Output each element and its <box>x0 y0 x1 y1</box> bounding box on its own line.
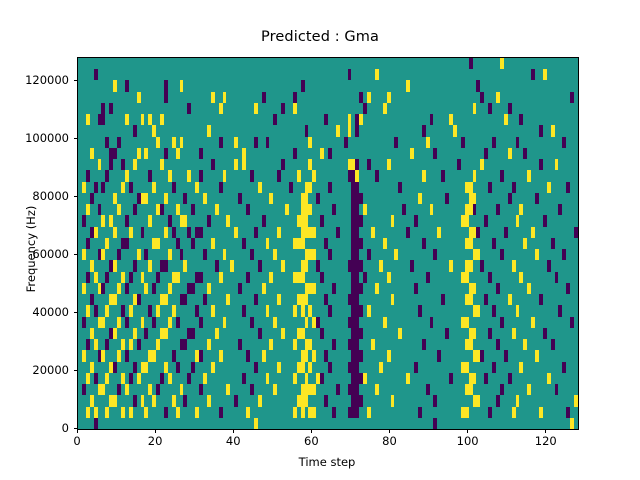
heatmap-cell <box>574 103 578 114</box>
heatmap-cell <box>574 92 578 103</box>
x-tick-mark <box>77 429 78 433</box>
heatmap-cell <box>574 407 578 418</box>
y-tick-label: 20000 <box>0 363 69 377</box>
y-axis-label: Frequency (Hz) <box>24 169 38 329</box>
heatmap-cell <box>574 260 578 271</box>
x-tick-label: 120 <box>535 434 557 448</box>
heatmap-cell <box>574 114 578 125</box>
heatmap-cell <box>574 238 578 249</box>
x-tick-label: 100 <box>457 434 479 448</box>
y-tick-mark <box>74 196 78 197</box>
y-tick-mark <box>74 254 78 255</box>
x-tick-label: 80 <box>382 434 397 448</box>
heatmap-cell <box>574 373 578 384</box>
heatmap-cell <box>574 339 578 350</box>
heatmap-cell <box>574 350 578 361</box>
heatmap-grid <box>78 58 578 429</box>
heatmap-cell <box>574 170 578 181</box>
heatmap-cell <box>574 58 578 69</box>
y-tick-mark <box>74 138 78 139</box>
y-tick-mark <box>74 370 78 371</box>
heatmap-cell <box>574 215 578 226</box>
x-tick-label: 40 <box>226 434 241 448</box>
x-tick-label: 60 <box>304 434 319 448</box>
heatmap-cell <box>574 137 578 148</box>
heatmap-cell <box>574 125 578 136</box>
chart-title: Predicted : Gma <box>0 29 640 45</box>
y-tick-label: 0 <box>0 421 69 435</box>
heatmap-cell <box>574 272 578 283</box>
heatmap-cell <box>574 362 578 373</box>
heatmap-cell <box>574 204 578 215</box>
heatmap-cell <box>574 317 578 328</box>
x-tick-mark <box>545 429 546 433</box>
x-tick-mark <box>233 429 234 433</box>
heatmap-cell <box>574 418 578 429</box>
y-tick-label: 120000 <box>0 73 69 87</box>
x-tick-mark <box>311 429 312 433</box>
heatmap-cell <box>574 148 578 159</box>
heatmap-cell <box>574 69 578 80</box>
x-tick-mark <box>467 429 468 433</box>
heatmap-cell <box>574 193 578 204</box>
heatmap-cell <box>574 294 578 305</box>
heatmap-cell <box>574 182 578 193</box>
y-tick-mark <box>74 312 78 313</box>
heatmap-cell <box>574 328 578 339</box>
heatmap-cell <box>574 249 578 260</box>
x-axis-label: Time step <box>77 455 577 469</box>
heatmap-cell <box>574 283 578 294</box>
matplotlib-figure: Predicted : Gma 020000400006000080000100… <box>0 0 640 480</box>
x-tick-label: 0 <box>73 434 80 448</box>
heatmap-axes <box>77 57 579 430</box>
heatmap-cell <box>574 227 578 238</box>
heatmap-cell <box>574 80 578 91</box>
x-tick-mark <box>155 429 156 433</box>
heatmap-cell <box>574 159 578 170</box>
heatmap-cell <box>574 305 578 316</box>
x-tick-label: 20 <box>148 434 163 448</box>
heatmap-cell <box>574 384 578 395</box>
heatmap-cell <box>574 395 578 406</box>
y-tick-mark <box>74 80 78 81</box>
x-tick-mark <box>389 429 390 433</box>
y-tick-label: 100000 <box>0 131 69 145</box>
